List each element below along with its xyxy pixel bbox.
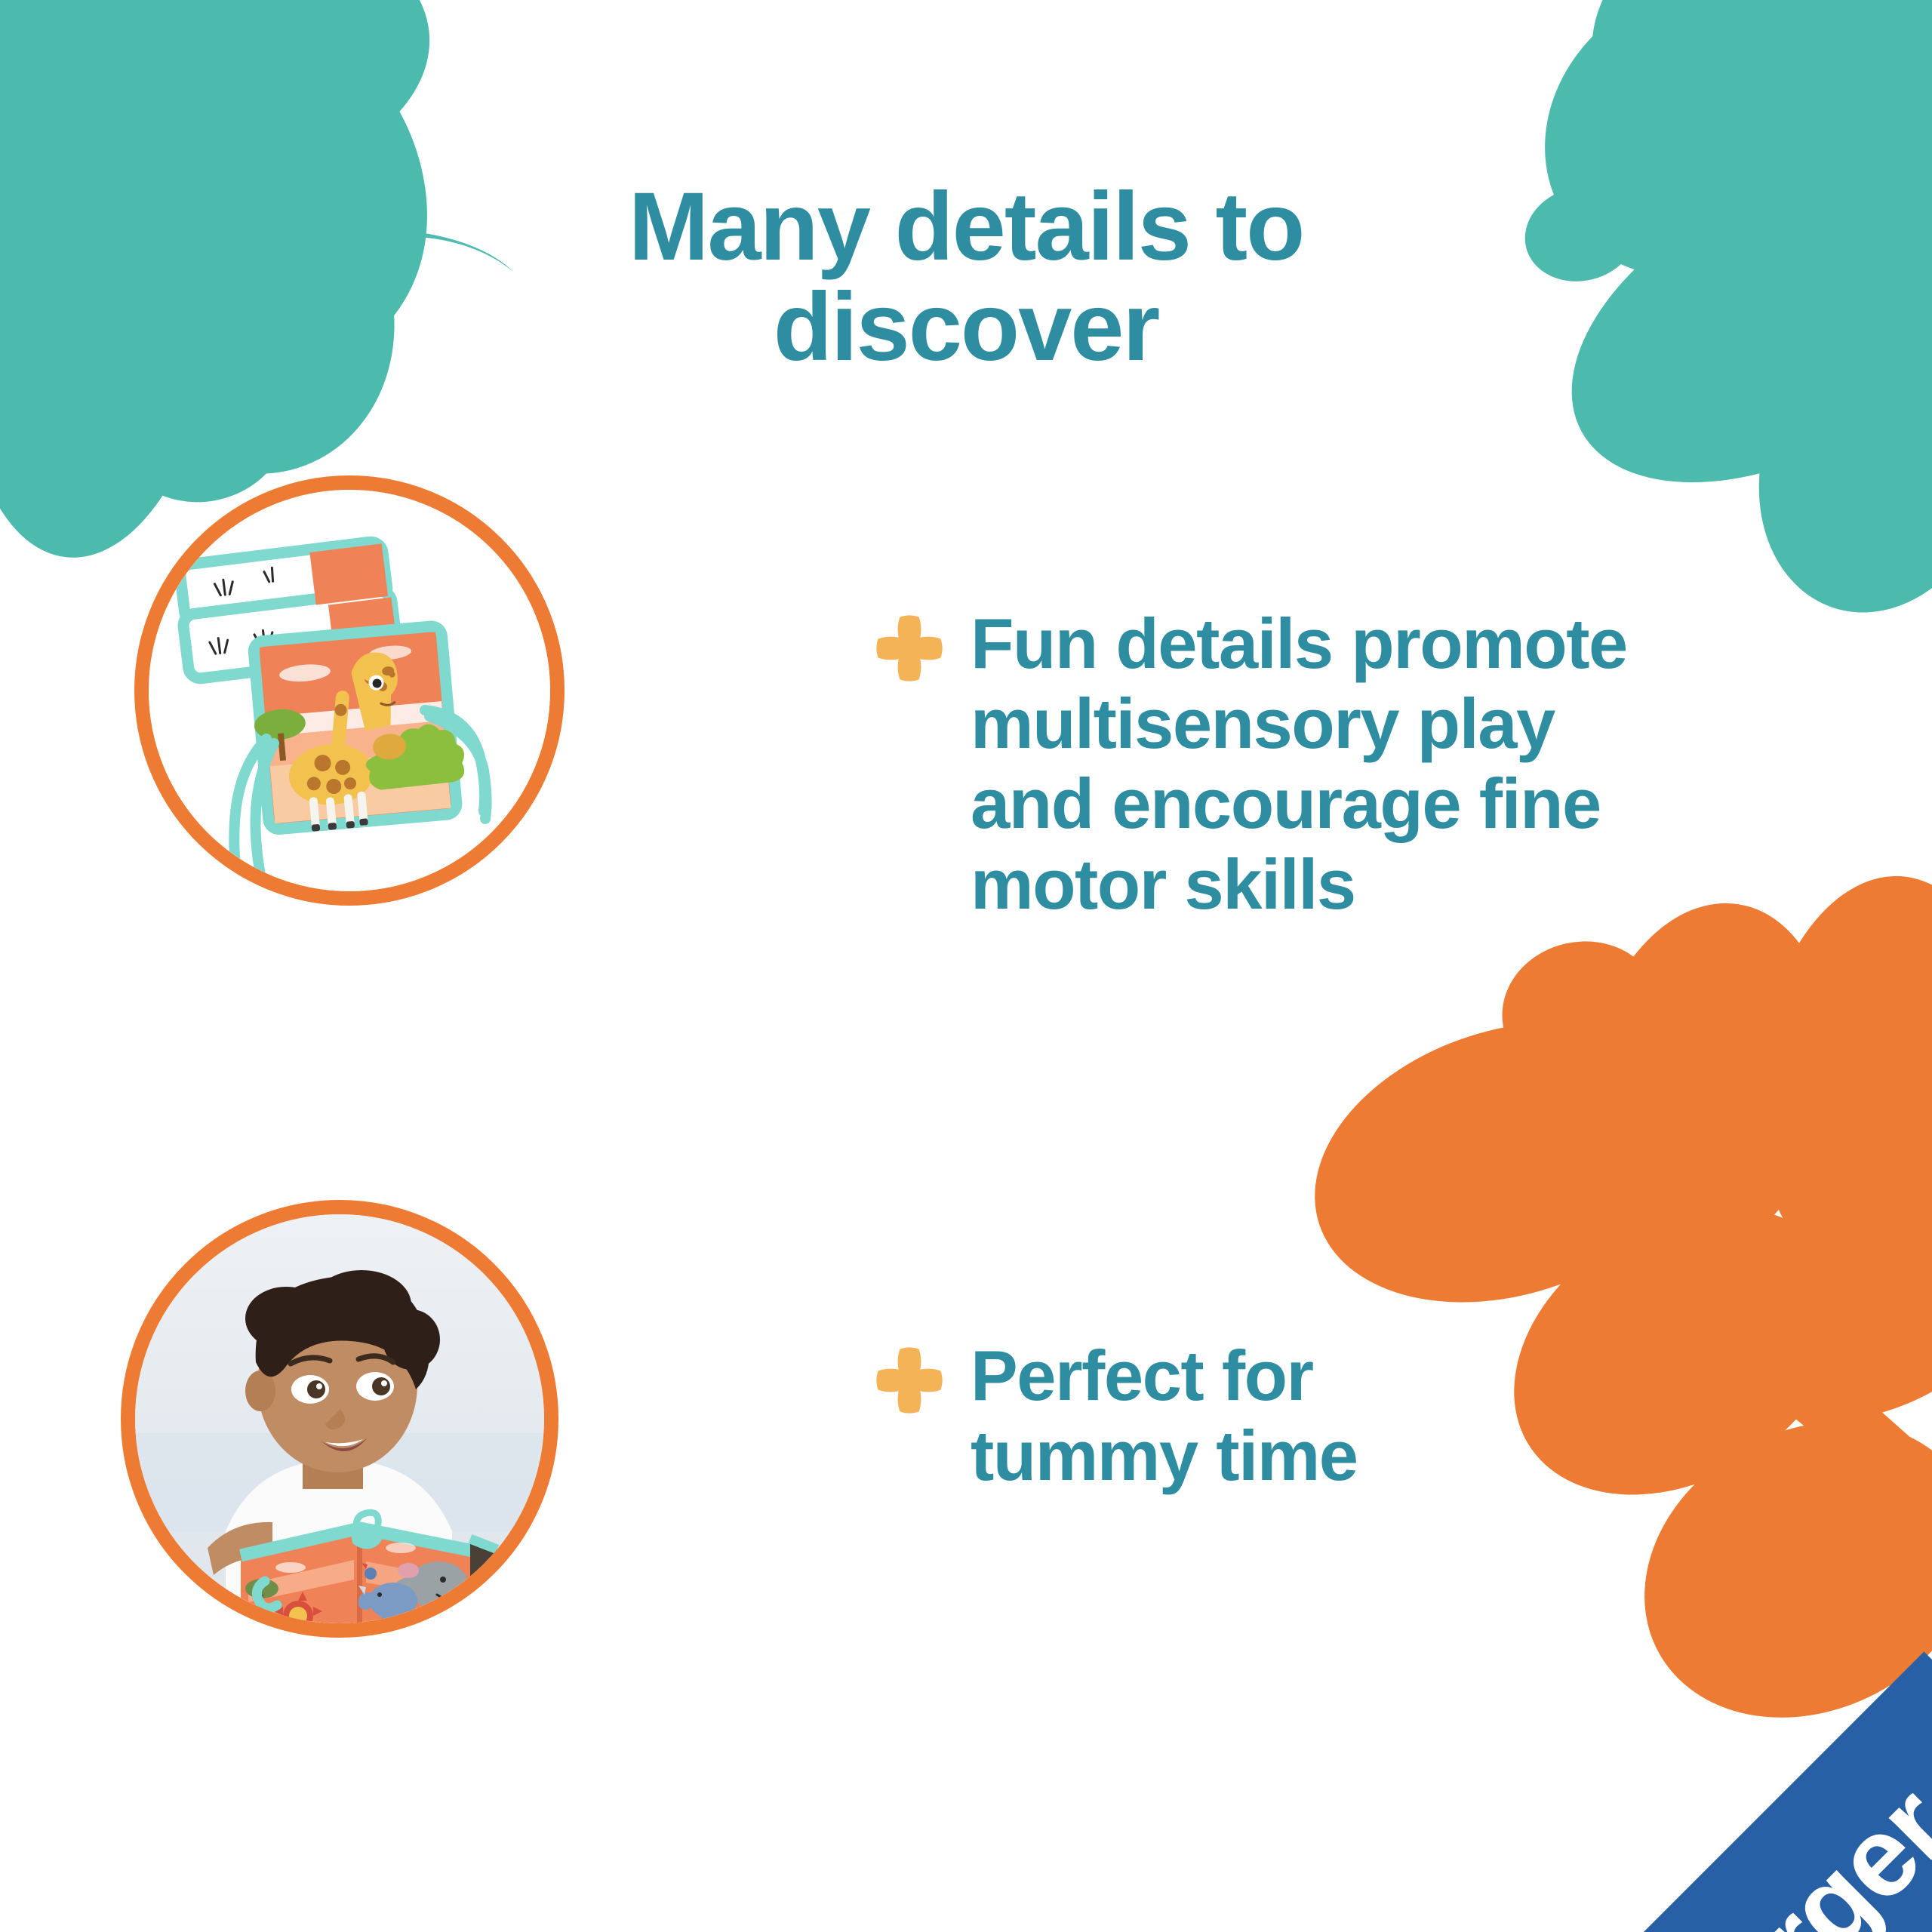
lifestyle-photo-inner — [135, 1214, 544, 1623]
product-photo-inner — [149, 490, 550, 891]
page-title: Many details to discover — [377, 177, 1555, 377]
product-photo-cloth-book — [134, 475, 565, 906]
teal-blob-cluster-top-right — [1490, 0, 1932, 644]
feature-item-2: Perfect for tummy time — [875, 1336, 1766, 1496]
orange-flower-right — [1278, 863, 1932, 1774]
plus-icon — [875, 1346, 943, 1414]
feature-item-1: Fun details promote multisensory play an… — [875, 604, 1857, 924]
feature-text-2: Perfect for tummy time — [971, 1336, 1358, 1496]
plus-icon — [875, 614, 943, 682]
brand-wordmark: Ravensburger — [1283, 1651, 1932, 1932]
lifestyle-photo-baby-tummy-time — [121, 1200, 558, 1638]
feature-text-1: Fun details promote multisensory play an… — [971, 604, 1627, 924]
marketing-graphic-canvas: Many details to discover — [0, 0, 1932, 1932]
brand-banner-band: Ravensburger — [1283, 1651, 1932, 1932]
